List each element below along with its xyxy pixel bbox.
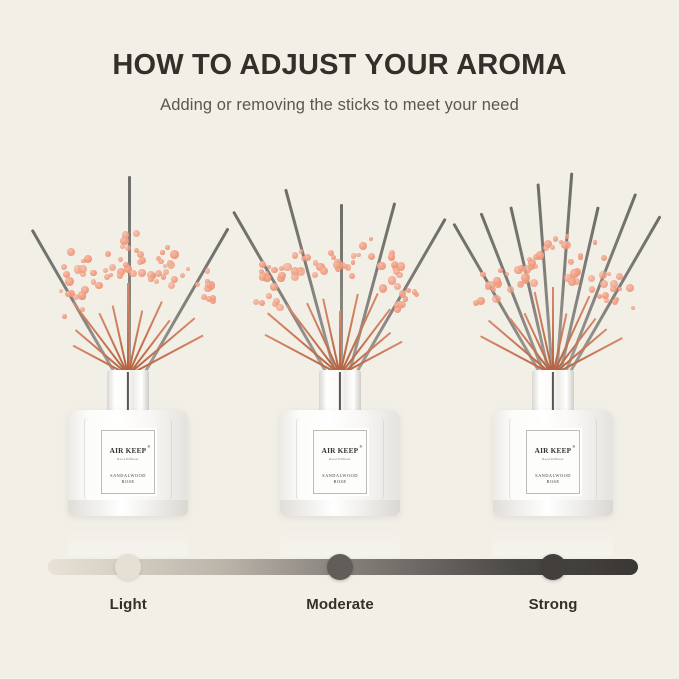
brand-tagline: Reed Diffuser [542,457,564,461]
flower-bloom [612,299,619,306]
dried-flower-cluster [23,245,233,375]
flower-bloom [607,272,611,276]
glass-body: AIR KEEP®Reed DiffuserSANDALWOODROSE [493,410,613,516]
flower-bloom [393,267,400,274]
bottle-reflection [280,528,400,556]
flower-bloom [278,272,286,280]
flower-bloom [195,282,200,287]
brand-name: AIR KEEP® [110,446,147,455]
flower-bloom [553,236,558,241]
flower-bloom [59,289,63,293]
scent-name: SANDALWOODROSE [535,473,571,487]
flower-bloom [498,268,503,273]
flower-bloom [312,272,318,278]
flower-stem [488,320,553,376]
diffuser-strong: AIR KEEP®Reed DiffuserSANDALWOODROSE [448,150,658,530]
flower-bloom [602,292,609,299]
flower-bloom [117,273,123,279]
brand-name: AIR KEEP® [535,446,572,455]
flower-bloom [521,273,530,282]
header: HOW TO ADJUST YOUR AROMA Adding or remov… [0,0,679,115]
flower-bloom [186,267,190,271]
product-label: AIR KEEP®Reed DiffuserSANDALWOODROSE [101,430,155,494]
flower-bloom [589,286,595,292]
flower-bloom [62,314,67,319]
scent-name: SANDALWOODROSE [322,473,358,487]
page-title: HOW TO ADJUST YOUR AROMA [0,0,679,82]
flower-bloom [271,267,278,274]
flower-bloom [601,255,607,261]
flower-bloom [78,291,86,299]
flower-bloom [205,281,212,288]
flower-bloom [167,261,175,269]
flower-bloom [550,245,555,250]
flower-bloom [320,267,328,275]
flower-bloom [103,268,108,273]
diffuser-light: AIR KEEP®Reed DiffuserSANDALWOODROSE [23,150,233,530]
glass-body: AIR KEEP®Reed DiffuserSANDALWOODROSE [280,410,400,516]
flower-bloom [368,253,375,260]
flower-bloom [626,284,634,292]
brand-name: AIR KEEP® [322,446,359,455]
flower-bloom [616,273,623,280]
diffuser-bottle: AIR KEEP®Reed DiffuserSANDALWOODROSE [23,370,233,530]
diffuser-bottle: AIR KEEP®Reed DiffuserSANDALWOODROSE [235,370,445,530]
flower-bloom [109,264,116,271]
intensity-scale [48,559,638,575]
flower-bloom [610,286,617,293]
glass-base [280,500,400,516]
flower-bloom [492,295,501,304]
flower-bloom [379,285,387,293]
flower-bloom [399,301,406,308]
flower-bloom [570,269,578,277]
flower-bloom [154,279,159,284]
flower-bloom [65,277,74,286]
scale-label-moderate: Moderate [306,596,373,613]
bottle-reflection [68,528,188,556]
infographic-canvas: HOW TO ADJUST YOUR AROMA Adding or remov… [0,0,679,679]
flower-bloom [165,245,170,250]
flower-bloom [543,245,549,251]
flower-stem [267,313,340,376]
flower-bloom [148,277,154,283]
flower-bloom [561,241,569,249]
flower-bloom [67,248,75,256]
flower-bloom [266,293,271,298]
flower-bloom [90,270,97,277]
product-row: AIR KEEP®Reed DiffuserSANDALWOODROSEAIR … [0,150,679,530]
flower-bloom [104,274,110,280]
flower-bloom [480,272,485,277]
flower-bloom [163,264,167,268]
flower-bloom [129,270,136,277]
flower-bloom [170,250,179,259]
bottle-reflection [493,528,613,556]
flower-bloom [412,289,417,294]
flower-bloom [259,261,266,268]
flower-bloom [343,264,347,268]
flower-bloom [205,268,211,274]
scale-label-light: Light [110,596,147,613]
scent-name: SANDALWOODROSE [110,473,146,487]
flower-bloom [588,275,595,282]
scale-dot-moderate[interactable] [327,554,353,580]
flower-bloom [137,259,143,265]
flower-bloom [297,267,305,275]
flower-bloom [388,253,396,261]
flower-bloom [118,257,123,262]
flower-bloom [568,277,577,286]
flower-bloom [138,269,145,276]
flower-bloom [505,272,510,277]
flower-bloom [283,263,292,272]
diffuser-bottle: AIR KEEP®Reed DiffuserSANDALWOODROSE [448,370,658,530]
flower-bloom [477,297,485,305]
glass-base [68,500,188,516]
flower-bloom [394,303,399,308]
flower-bloom [259,300,265,306]
intensity-gradient-bar[interactable] [48,559,638,575]
intensity-scale-labels: LightModerateStrong [0,596,679,620]
flower-bloom [530,279,538,287]
flower-bloom [270,283,278,291]
flower-bloom [95,282,102,289]
flower-bloom [161,274,167,280]
flower-bloom [392,261,399,268]
scale-dot-light[interactable] [115,554,141,580]
flower-bloom [120,237,129,246]
flower-bloom [292,252,298,258]
brand-tagline: Reed Diffuser [117,457,139,461]
flower-bloom [359,242,367,250]
flower-bloom [593,240,598,245]
flower-bloom [299,249,304,254]
dried-flower-cluster [235,245,445,375]
glass-base [493,500,613,516]
flower-bloom [493,277,500,284]
flower-bloom [599,271,606,278]
flower-bloom [351,253,356,258]
flower-bloom [125,245,131,251]
flower-bloom [105,251,111,257]
flower-bloom [180,273,185,278]
page-subtitle: Adding or removing the sticks to meet yo… [0,82,679,115]
flower-bloom [356,253,360,257]
flower-bloom [78,265,86,273]
dried-flower-cluster [448,245,658,375]
flower-bloom [84,255,92,263]
flower-bloom [160,250,164,254]
flower-bloom [517,281,524,288]
flower-bloom [267,265,271,269]
flower-bloom [600,280,608,288]
flower-bloom [349,273,355,279]
flower-bloom [631,306,636,311]
product-label: AIR KEEP®Reed DiffuserSANDALWOODROSE [526,430,580,494]
product-label: AIR KEEP®Reed DiffuserSANDALWOODROSE [313,430,367,494]
flower-bloom [394,283,401,290]
flower-bloom [61,264,67,270]
glass-body: AIR KEEP®Reed DiffuserSANDALWOODROSE [68,410,188,516]
flower-bloom [568,259,574,265]
diffuser-moderate: AIR KEEP®Reed DiffuserSANDALWOODROSE [235,150,445,530]
flower-stem [552,287,554,375]
flower-bloom [65,291,71,297]
scale-label-strong: Strong [529,596,578,613]
flower-bloom [377,262,385,270]
scale-dot-strong[interactable] [540,554,566,580]
flower-stem [127,283,129,375]
flower-bloom [507,286,514,293]
flower-bloom [406,288,411,293]
brand-tagline: Reed Diffuser [329,457,351,461]
flower-bloom [618,287,622,291]
flower-bloom [351,260,356,265]
flower-bloom [272,301,278,307]
flower-bloom [168,282,175,289]
flower-bloom [81,259,85,263]
